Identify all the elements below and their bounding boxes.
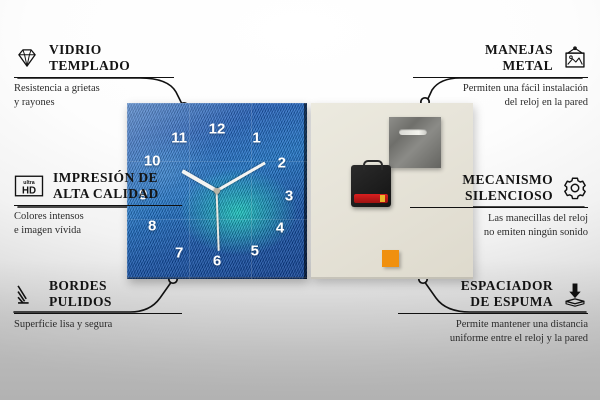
callout-subtitle: Superficie lisa y segura	[14, 318, 182, 331]
quartz-movement	[351, 165, 391, 207]
infographic-canvas: 12 1 2 3 4 5 6 7 8 9 10 11	[0, 0, 600, 400]
callout-title: VIDRIO TEMPLADO	[49, 42, 130, 74]
callout-header: MANEJAS METAL	[413, 42, 588, 74]
callout-header: ESPACIADOR DE ESPUMA	[398, 278, 588, 310]
hand-center-cap	[214, 188, 220, 194]
foam-spacer	[382, 250, 399, 267]
callout-divider	[14, 77, 174, 79]
callout-divider	[398, 313, 588, 315]
callout-subtitle: Permite mantener una distancia uniforme …	[398, 318, 588, 345]
aa-battery	[354, 194, 388, 203]
callout-divider	[410, 207, 588, 209]
clock-numeral: 12	[209, 122, 226, 137]
clock-numeral: 1	[252, 131, 260, 146]
callout-subtitle: Las manecillas del reloj no emiten ningú…	[410, 212, 588, 239]
polished-edges-icon	[14, 281, 40, 307]
picture-frame-hanger-icon	[562, 45, 588, 71]
callout-impresion-alta-calidad: ultra HD IMPRESIÓN DE ALTA CALIDAD Color…	[14, 170, 182, 237]
callout-bordes-pulidos: BORDES PULIDOS Superficie lisa y segura	[14, 278, 182, 332]
diamond-icon	[14, 45, 40, 71]
hanger-slot	[399, 129, 427, 135]
metal-hanger	[389, 117, 441, 168]
callout-mecanismo-silencioso: MECANISMO SILENCIOSO Las manecillas del …	[410, 172, 588, 239]
callout-divider	[14, 205, 182, 207]
callout-title: BORDES PULIDOS	[49, 278, 112, 310]
movement-hook	[363, 160, 383, 170]
callout-header: VIDRIO TEMPLADO	[14, 42, 174, 74]
callout-manejas-metal: MANEJAS METAL Permiten una fácil instala…	[413, 42, 588, 109]
callout-vidrio-templado: VIDRIO TEMPLADO Resistencia a grietas y …	[14, 42, 174, 109]
callout-subtitle: Resistencia a grietas y rayones	[14, 82, 174, 109]
callout-header: ultra HD IMPRESIÓN DE ALTA CALIDAD	[14, 170, 182, 202]
callout-divider	[14, 313, 182, 315]
callout-subtitle: Colores intensos e imagen vívida	[14, 210, 182, 237]
clock-numeral: 2	[278, 155, 286, 170]
callout-espaciador-espuma: ESPACIADOR DE ESPUMA Permite mantener un…	[398, 278, 588, 345]
gear-icon	[562, 175, 588, 201]
clock-numeral: 5	[251, 243, 259, 258]
callout-header: BORDES PULIDOS	[14, 278, 182, 310]
callout-title: IMPRESIÓN DE ALTA CALIDAD	[53, 170, 159, 202]
clock-numeral: 10	[144, 154, 161, 169]
svg-text:HD: HD	[22, 185, 36, 196]
foam-spacer-arrow-icon	[562, 281, 588, 307]
callout-subtitle: Permiten una fácil instalación del reloj…	[413, 82, 588, 109]
ultra-hd-icon: ultra HD	[14, 174, 44, 198]
clock-numeral: 7	[175, 245, 183, 260]
callout-divider	[413, 77, 588, 79]
callout-header: MECANISMO SILENCIOSO	[410, 172, 588, 204]
callout-title: ESPACIADOR DE ESPUMA	[461, 278, 553, 310]
callout-title: MANEJAS METAL	[485, 42, 553, 74]
clock-numeral: 6	[213, 254, 221, 269]
callout-title: MECANISMO SILENCIOSO	[462, 172, 553, 204]
clock-numeral: 4	[276, 220, 284, 235]
clock-numeral: 11	[171, 131, 187, 146]
clock-numeral: 3	[285, 189, 293, 204]
